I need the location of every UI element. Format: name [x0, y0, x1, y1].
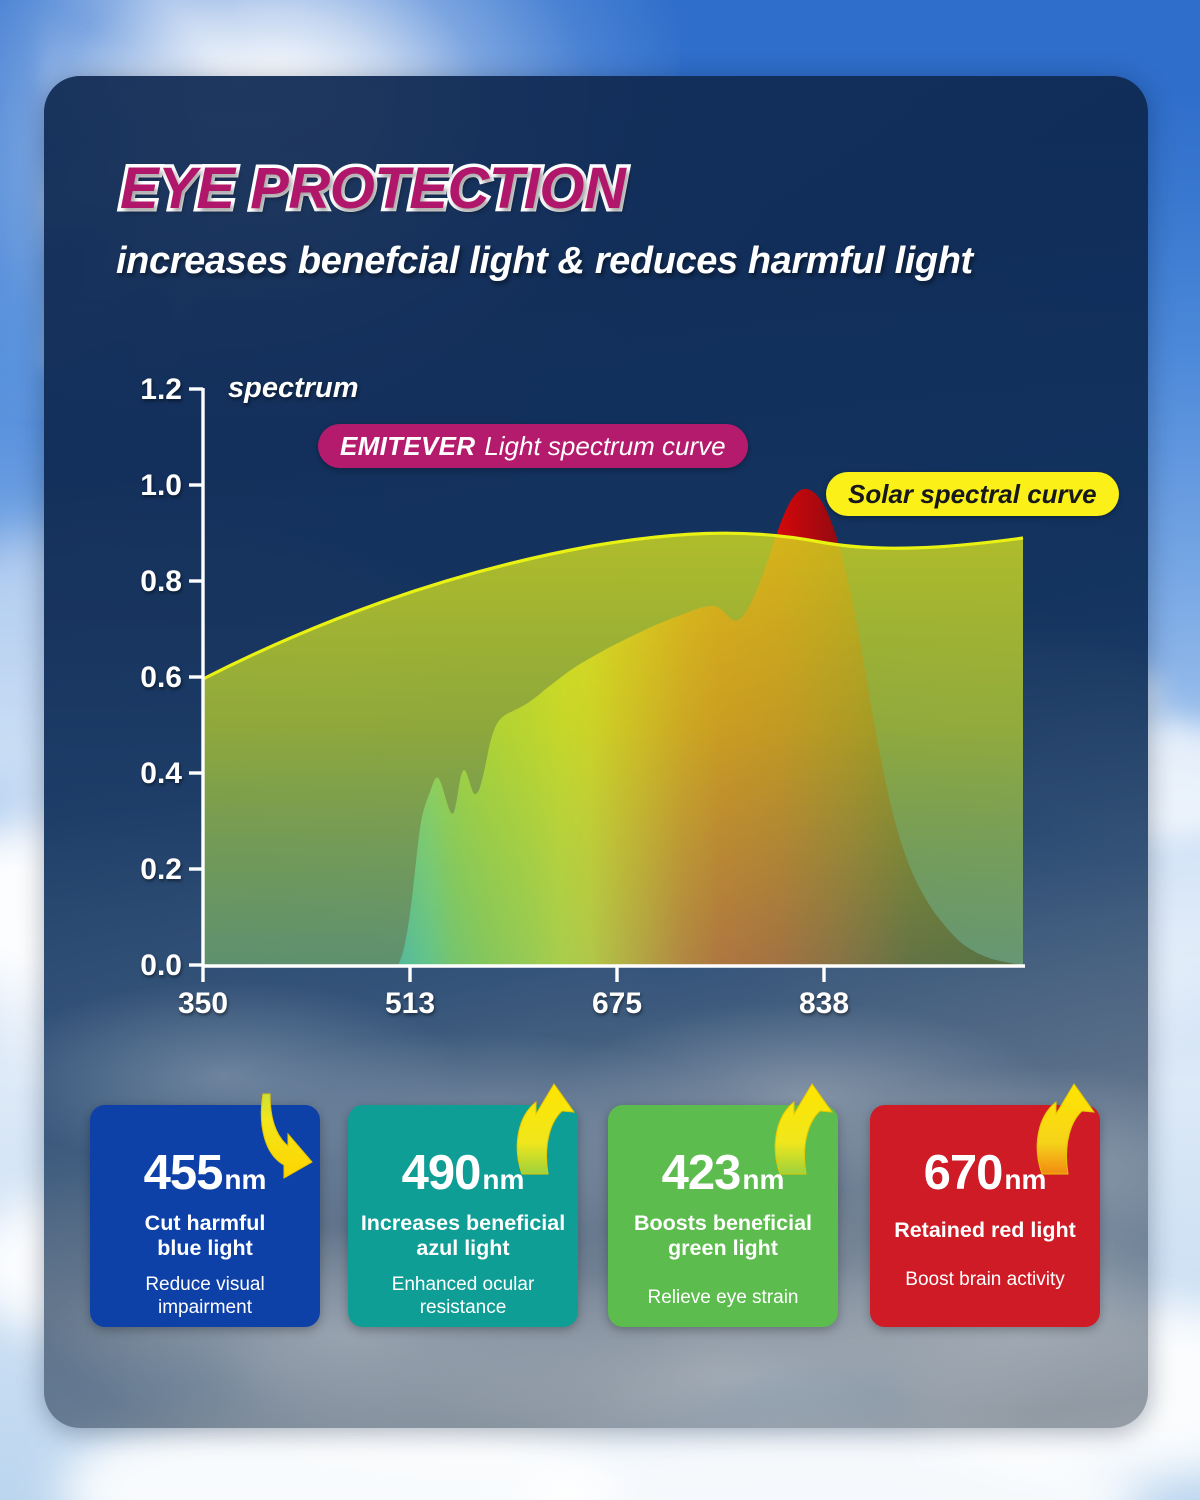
wavelength-value: 455 — [144, 1149, 223, 1198]
benefit-card-455nm[interactable]: 455 nm Cut harmfulblue light Reduce visu… — [90, 1105, 320, 1327]
card-subtext: Relieve eye strain — [616, 1287, 831, 1310]
card-headline: Retained red light — [878, 1218, 1093, 1243]
wavelength-line: 490 nm — [402, 1149, 525, 1198]
wavelength-line: 670 nm — [924, 1149, 1047, 1198]
wavelength-value: 670 — [924, 1149, 1003, 1198]
card-headline: Increases beneficialazul light — [356, 1211, 571, 1261]
card-subtext: Enhanced ocularresistance — [356, 1274, 571, 1320]
wavelength-value: 490 — [402, 1149, 481, 1198]
wavelength-unit: nm — [482, 1166, 524, 1194]
benefit-card-490nm[interactable]: 490 nm Increases beneficialazul light En… — [348, 1105, 578, 1327]
wavelength-line: 423 nm — [662, 1149, 785, 1198]
wavelength-unit: nm — [224, 1166, 266, 1194]
wavelength-line: 455 nm — [144, 1149, 267, 1198]
benefit-card-670nm[interactable]: 670 nm Retained red light Boost brain ac… — [870, 1105, 1100, 1327]
card-subtext: Boost brain activity — [878, 1269, 1093, 1292]
card-headline: Boosts beneficialgreen light — [616, 1211, 831, 1261]
card-headline: Cut harmfulblue light — [98, 1211, 313, 1261]
wavelength-unit: nm — [1004, 1166, 1046, 1194]
card-subtext: Reduce visualimpairment — [98, 1274, 313, 1320]
benefit-card-423nm[interactable]: 423 nm Boosts beneficialgreen light Reli… — [608, 1105, 838, 1327]
wavelength-unit: nm — [742, 1166, 784, 1194]
wavelength-value: 423 — [662, 1149, 741, 1198]
benefit-cards: 455 nm Cut harmfulblue light Reduce visu… — [0, 0, 1200, 1500]
